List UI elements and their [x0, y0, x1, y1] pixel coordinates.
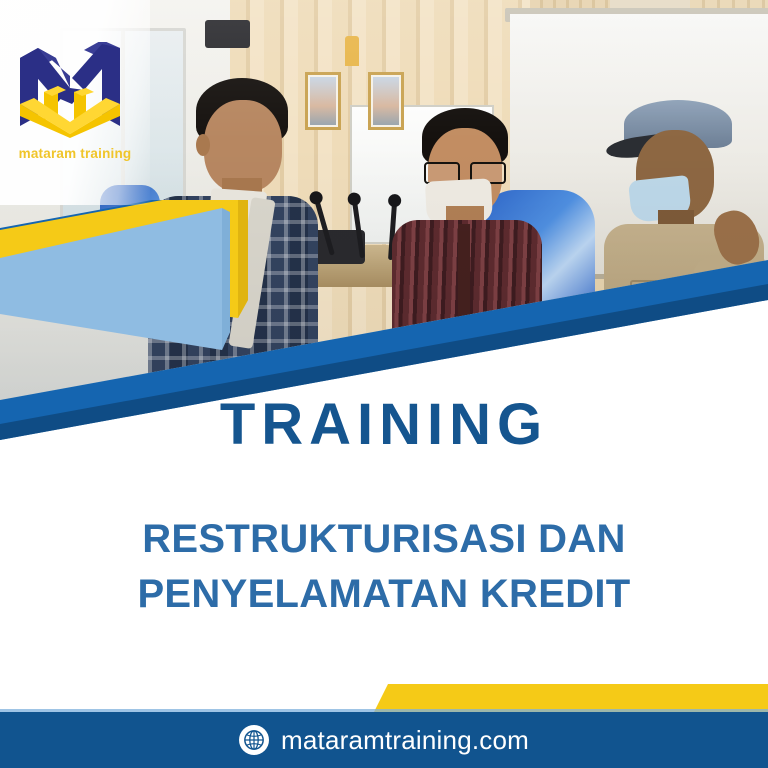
page-subtitle: RESTRUKTURISASI DAN PENYELAMATAN KREDIT: [0, 512, 768, 622]
website-url[interactable]: mataramtraining.com: [281, 725, 529, 756]
page-title: TRAINING: [0, 396, 768, 454]
logo-panel: mataram training: [0, 0, 150, 205]
mataram-m-logo-icon: [14, 42, 126, 138]
subtitle-line-2: PENYELAMATAN KREDIT: [0, 567, 768, 622]
footer-bar: mataramtraining.com: [0, 712, 768, 768]
left-accent-ribbons: [0, 200, 330, 400]
subtitle-line-1: RESTRUKTURISASI DAN: [0, 512, 768, 567]
poster-canvas: mataram training TRAINING RESTRUKTURISAS…: [0, 0, 768, 768]
logo-wordmark: mataram training: [0, 146, 150, 161]
globe-icon: [239, 725, 269, 755]
